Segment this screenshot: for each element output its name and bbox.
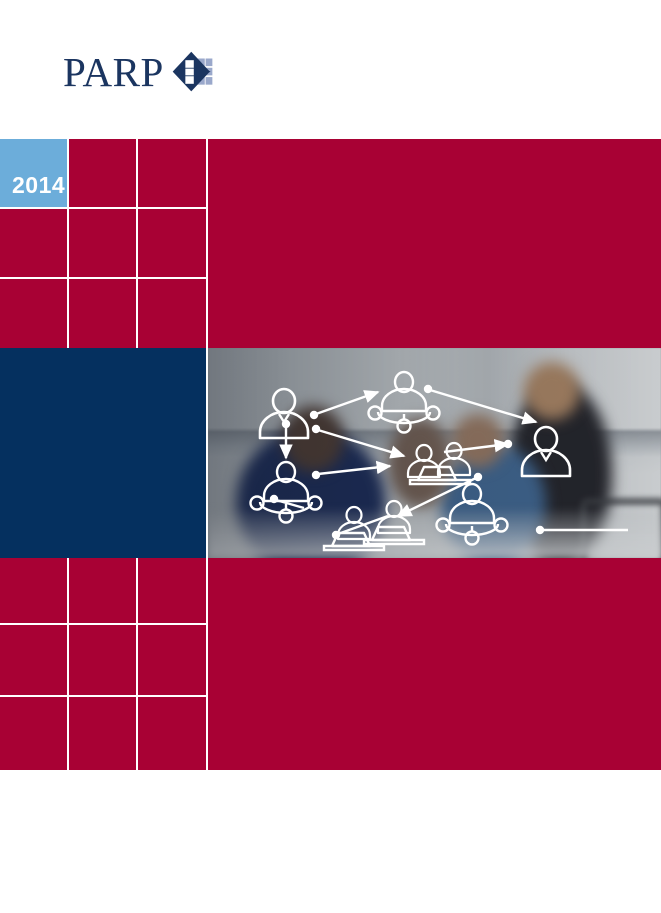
navy-accent-block [0,348,206,558]
grid-cell [138,139,208,209]
desk-icon [364,527,424,544]
grid-cell [69,625,138,697]
person-icon [438,443,470,475]
grid-cell [138,625,208,697]
grid-module-divider [206,558,208,770]
parp-diamond-arrow-icon [171,43,213,101]
grid-cell [138,279,208,348]
top-grid-module: 2014 [0,139,208,348]
cover-photo [208,348,661,558]
bottom-grid-module [0,558,208,770]
grid-cell [0,209,69,279]
year-badge-cell: 2014 [0,139,69,209]
grid-cell [0,697,69,770]
grid-cell [69,558,138,625]
network-overlay-icon [208,348,661,558]
grid-cell [138,697,208,770]
person-icon [260,389,308,438]
grid-cell [138,558,208,625]
person-hub-icon [369,372,440,433]
grid-cell [69,209,138,279]
grid-cell [0,279,69,348]
year-label: 2014 [12,174,65,197]
person-hub-icon [251,462,322,523]
top-color-band: 2014 (R)ewaluacja 2 Wiedza w działaniu [0,139,661,348]
grid-cell [138,209,208,279]
grid-cell [69,279,138,348]
book-cover: PARP 2014 [0,0,661,913]
person-icon [522,427,570,476]
grid-cell [69,139,138,209]
person-icon [408,445,440,477]
grid-cell [69,697,138,770]
grid-cell [0,625,69,697]
parp-logo-wordmark: PARP [63,52,164,93]
parp-logo: PARP [63,41,213,103]
grid-module-divider [206,139,208,348]
grid-cell [0,558,69,625]
bottom-color-band: Redakcja: Agnieszka Haber Karol Olejnicz… [0,558,661,770]
